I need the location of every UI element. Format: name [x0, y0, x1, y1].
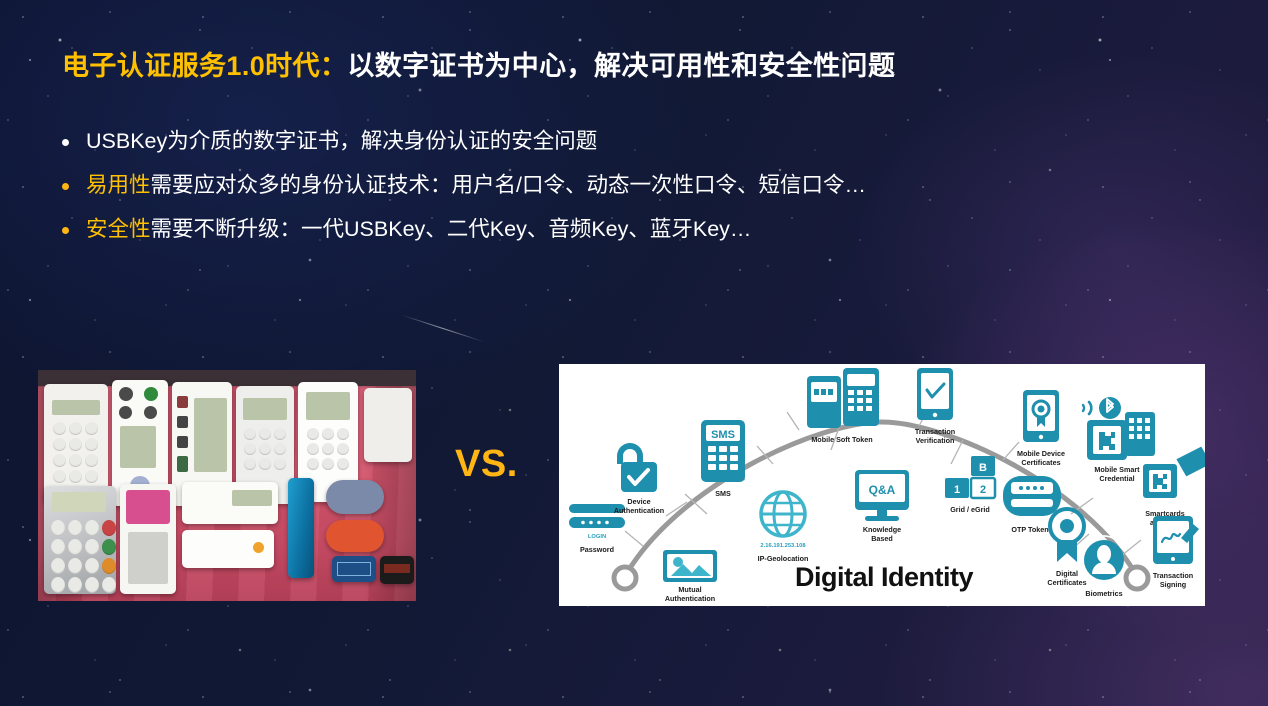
- node-grid-egrid: B 1 2 Grid / eGrid: [945, 456, 995, 514]
- svg-text:SMS: SMS: [711, 429, 735, 441]
- bullet-dot-icon: [62, 139, 69, 146]
- node-smartcards-usb: Smartcards and USB: [1143, 446, 1205, 527]
- bullet-text: 安全性需要不断升级：一代USBKey、二代Key、音频Key、蓝牙Key…: [86, 216, 751, 244]
- hardware-tokens-photo: [38, 370, 416, 601]
- vs-label: VS.: [455, 443, 518, 486]
- node-label-txn-verify-2: Verification: [916, 436, 955, 445]
- token-device: [332, 556, 376, 582]
- node-otp-tokens: OTP Tokens: [1003, 476, 1061, 534]
- node-label-mobile-cert-2: Certificates: [1021, 458, 1060, 467]
- digital-identity-diagram: LOGIN Password Device Authentication: [559, 364, 1205, 606]
- bullet-text: 易用性需要应对众多的身份认证技术：用户名/口令、动态一次性口令、短信口令…: [86, 172, 866, 200]
- title-white-segment: 以数字证书为中心，解决可用性和安全性问题: [347, 51, 895, 81]
- image-card-icon: [663, 550, 717, 582]
- phone-check-icon: [917, 368, 953, 420]
- node-ip-geolocation: 2.16.191.253.108 IP-Geolocation: [758, 492, 809, 563]
- list-item: 易用性需要应对众多的身份认证技术：用户名/口令、动态一次性口令、短信口令…: [62, 172, 1202, 200]
- node-label-mobile-soft-token: Mobile Soft Token: [811, 435, 872, 444]
- node-label-mutual-auth-2: Authentication: [665, 594, 715, 603]
- slide-title: 电子认证服务1.0时代：以数字证书为中心，解决可用性和安全性问题: [62, 44, 1212, 83]
- node-label-txn-signing-1: Transaction: [1153, 571, 1193, 580]
- node-label-sms: SMS: [715, 489, 731, 498]
- node-label-knowledge-1: Knowledge: [863, 525, 901, 534]
- list-item: 安全性需要不断升级：一代USBKey、二代Key、音频Key、蓝牙Key…: [62, 216, 1202, 244]
- node-knowledge-based: Q&A Knowledge Based: [855, 470, 909, 543]
- slide-canvas: 电子认证服务1.0时代：以数字证书为中心，解决可用性和安全性问题 USBKey为…: [0, 0, 1268, 706]
- bullet-list: USBKey为介质的数字证书，解决身份认证的安全问题 易用性需要应对众多的身份认…: [62, 128, 1202, 260]
- bullet-dot-icon: [62, 183, 69, 190]
- seal-ribbon-icon: [1050, 509, 1084, 562]
- node-sms: SMS SMS: [701, 420, 745, 498]
- node-label-txn-signing-2: Signing: [1160, 580, 1186, 589]
- bullet-2-text: 需要应对众多的身份认证技术：用户名/口令、动态一次性口令、短信口令…: [151, 173, 866, 197]
- token-device: [364, 388, 412, 462]
- ip-address-label: 2.16.191.253.108: [760, 543, 806, 549]
- arc-right-knob: [1126, 567, 1148, 589]
- bullet-3-highlight: 安全性: [86, 217, 151, 241]
- bullet-3-text: 需要不断升级：一代USBKey、二代Key、音频Key、蓝牙Key…: [151, 217, 752, 241]
- bullet-2-highlight: 易用性: [86, 173, 151, 197]
- bluetooth-phone-chip-icon: [1083, 397, 1155, 460]
- token-device: [326, 520, 384, 552]
- node-label-digital-cert-2: Certificates: [1047, 578, 1086, 587]
- login-badge: LOGIN: [588, 534, 606, 540]
- bullet-1-text: USBKey为介质的数字证书，解决身份认证的安全问题: [86, 129, 597, 153]
- svg-text:Q&A: Q&A: [869, 483, 896, 497]
- node-label-password: Password: [580, 545, 614, 554]
- node-mobile-device-certificates: Mobile Device Certificates: [1017, 390, 1065, 467]
- phone-tablet-icon: [807, 368, 879, 428]
- sms-keypad-icon: SMS: [701, 420, 745, 482]
- usb-key-device: [288, 478, 314, 578]
- monitor-qa-icon: Q&A: [855, 470, 909, 521]
- diagram-headline: Digital Identity: [795, 562, 973, 592]
- otp-token-icon: [1003, 476, 1061, 516]
- node-label-knowledge-2: Based: [871, 534, 893, 543]
- node-transaction-signing: Transaction Signing: [1153, 516, 1199, 589]
- token-device: [44, 486, 116, 594]
- grid-tile-2: 2: [980, 484, 986, 496]
- globe-icon: [761, 492, 805, 536]
- grid-tile-1: 1: [954, 484, 960, 496]
- fingerprint-face-icon: [1084, 536, 1124, 580]
- list-item: USBKey为介质的数字证书，解决身份认证的安全问题: [62, 128, 1202, 156]
- node-label-digital-cert-1: Digital: [1056, 569, 1078, 578]
- phone-seal-icon: [1023, 390, 1059, 442]
- grid-tile-b: B: [979, 462, 987, 474]
- shooting-star-streak: [402, 315, 484, 343]
- node-label-mobile-cert-1: Mobile Device: [1017, 449, 1065, 458]
- node-transaction-verification: Transaction Verification: [915, 368, 955, 445]
- token-device: [182, 482, 278, 524]
- token-device: [120, 484, 176, 594]
- node-label-biometrics: Biometrics: [1085, 589, 1122, 598]
- node-label-mutual-auth-1: Mutual: [678, 585, 701, 594]
- node-digital-certificates: Digital Certificates: [1047, 509, 1086, 587]
- bullet-dot-icon: [62, 227, 69, 234]
- token-device: [182, 530, 274, 568]
- token-device: [380, 556, 414, 584]
- node-label-device-auth-2: Authentication: [614, 506, 664, 515]
- node-label-device-auth-1: Device: [627, 497, 650, 506]
- node-label-txn-verify-1: Transaction: [915, 427, 955, 436]
- node-label-smart-cred-1: Mobile Smart: [1094, 465, 1140, 474]
- signature-tablet-icon: [1153, 516, 1199, 564]
- title-gold-segment: 电子认证服务1.0时代：: [62, 51, 347, 81]
- node-label-otp-tokens: OTP Tokens: [1011, 525, 1052, 534]
- node-label-smart-cred-2: Credential: [1099, 474, 1134, 483]
- node-mutual-auth: Mutual Authentication: [663, 550, 717, 603]
- arc-left-knob: [614, 567, 636, 589]
- bullet-text: USBKey为介质的数字证书，解决身份认证的安全问题: [86, 128, 597, 156]
- token-device: [326, 480, 384, 514]
- padlock-check-icon: [617, 443, 657, 492]
- node-label-grid: Grid / eGrid: [950, 505, 990, 514]
